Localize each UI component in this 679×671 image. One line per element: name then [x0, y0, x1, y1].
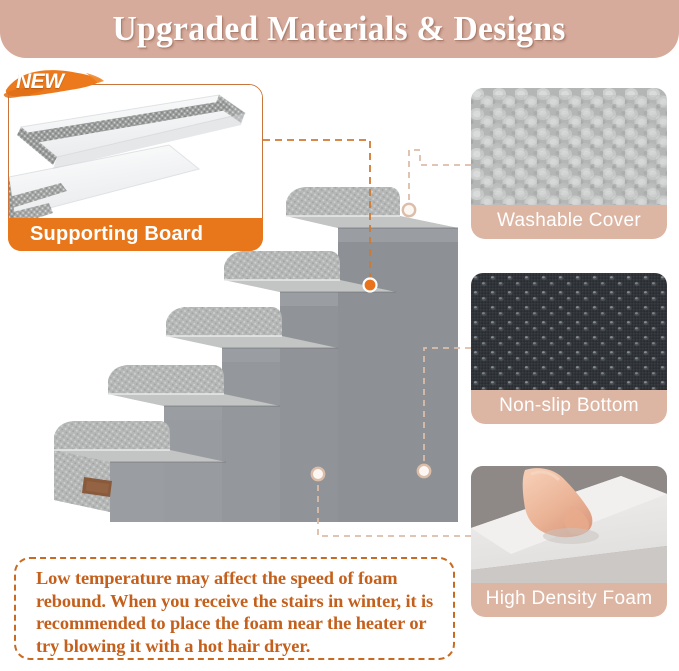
washable-cover-caption: Washable Cover — [471, 203, 667, 239]
washable-cover-photo — [471, 88, 667, 205]
supporting-board-label: Supporting Board — [30, 223, 203, 246]
high-density-foam-photo — [471, 466, 667, 583]
page-title: Upgraded Materials & Designs — [113, 9, 566, 49]
high-density-foam-label: High Density Foam — [486, 588, 653, 610]
header-banner: Upgraded Materials & Designs — [0, 0, 679, 58]
note-text: Low temperature may affect the speed of … — [36, 567, 439, 657]
supporting-board-label-bar: Supporting Board — [8, 218, 263, 251]
non-slip-bottom-label: Non-slip Bottom — [499, 395, 639, 417]
new-badge-label: NEW — [16, 70, 64, 94]
infographic-root: Upgraded Materials & Designs — [0, 0, 679, 671]
washable-cover-label: Washable Cover — [497, 210, 641, 232]
panel-non-slip-bottom[interactable]: Non-slip Bottom — [471, 273, 667, 424]
non-slip-bottom-caption: Non-slip Bottom — [471, 388, 667, 424]
note-box: Low temperature may affect the speed of … — [14, 557, 455, 660]
new-badge: NEW — [2, 64, 106, 106]
panel-high-density-foam[interactable]: High Density Foam — [471, 466, 667, 617]
panel-washable-cover[interactable]: Washable Cover — [471, 88, 667, 239]
non-slip-bottom-photo — [471, 273, 667, 390]
high-density-foam-caption: High Density Foam — [471, 581, 667, 617]
